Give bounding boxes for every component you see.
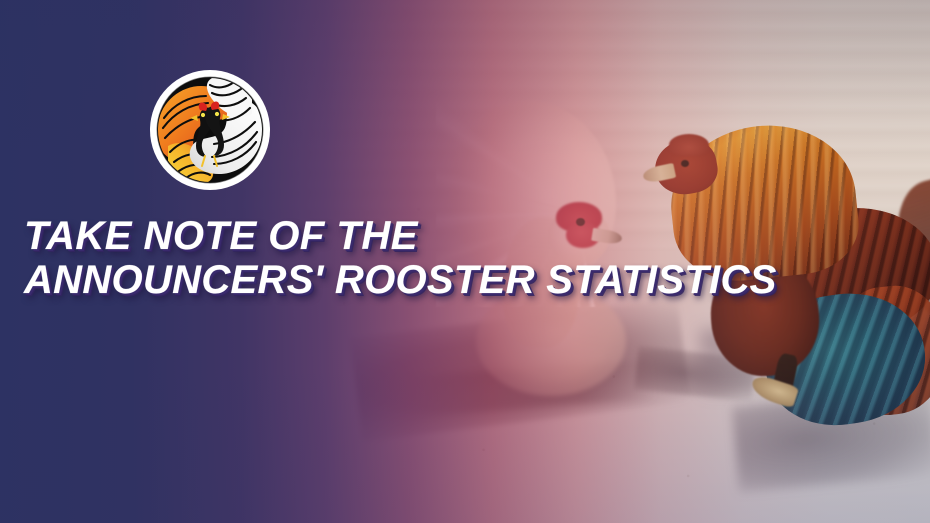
promo-banner: TAKE NOTE OF THE ANNOUNCERS' ROOSTER STA… bbox=[0, 0, 930, 523]
rooster-emblem-logo bbox=[148, 68, 272, 192]
headline-line-1: TAKE NOTE OF THE bbox=[24, 214, 904, 258]
headline-line-2: ANNOUNCERS' ROOSTER STATISTICS bbox=[24, 258, 904, 302]
headline: TAKE NOTE OF THE ANNOUNCERS' ROOSTER STA… bbox=[24, 214, 904, 302]
